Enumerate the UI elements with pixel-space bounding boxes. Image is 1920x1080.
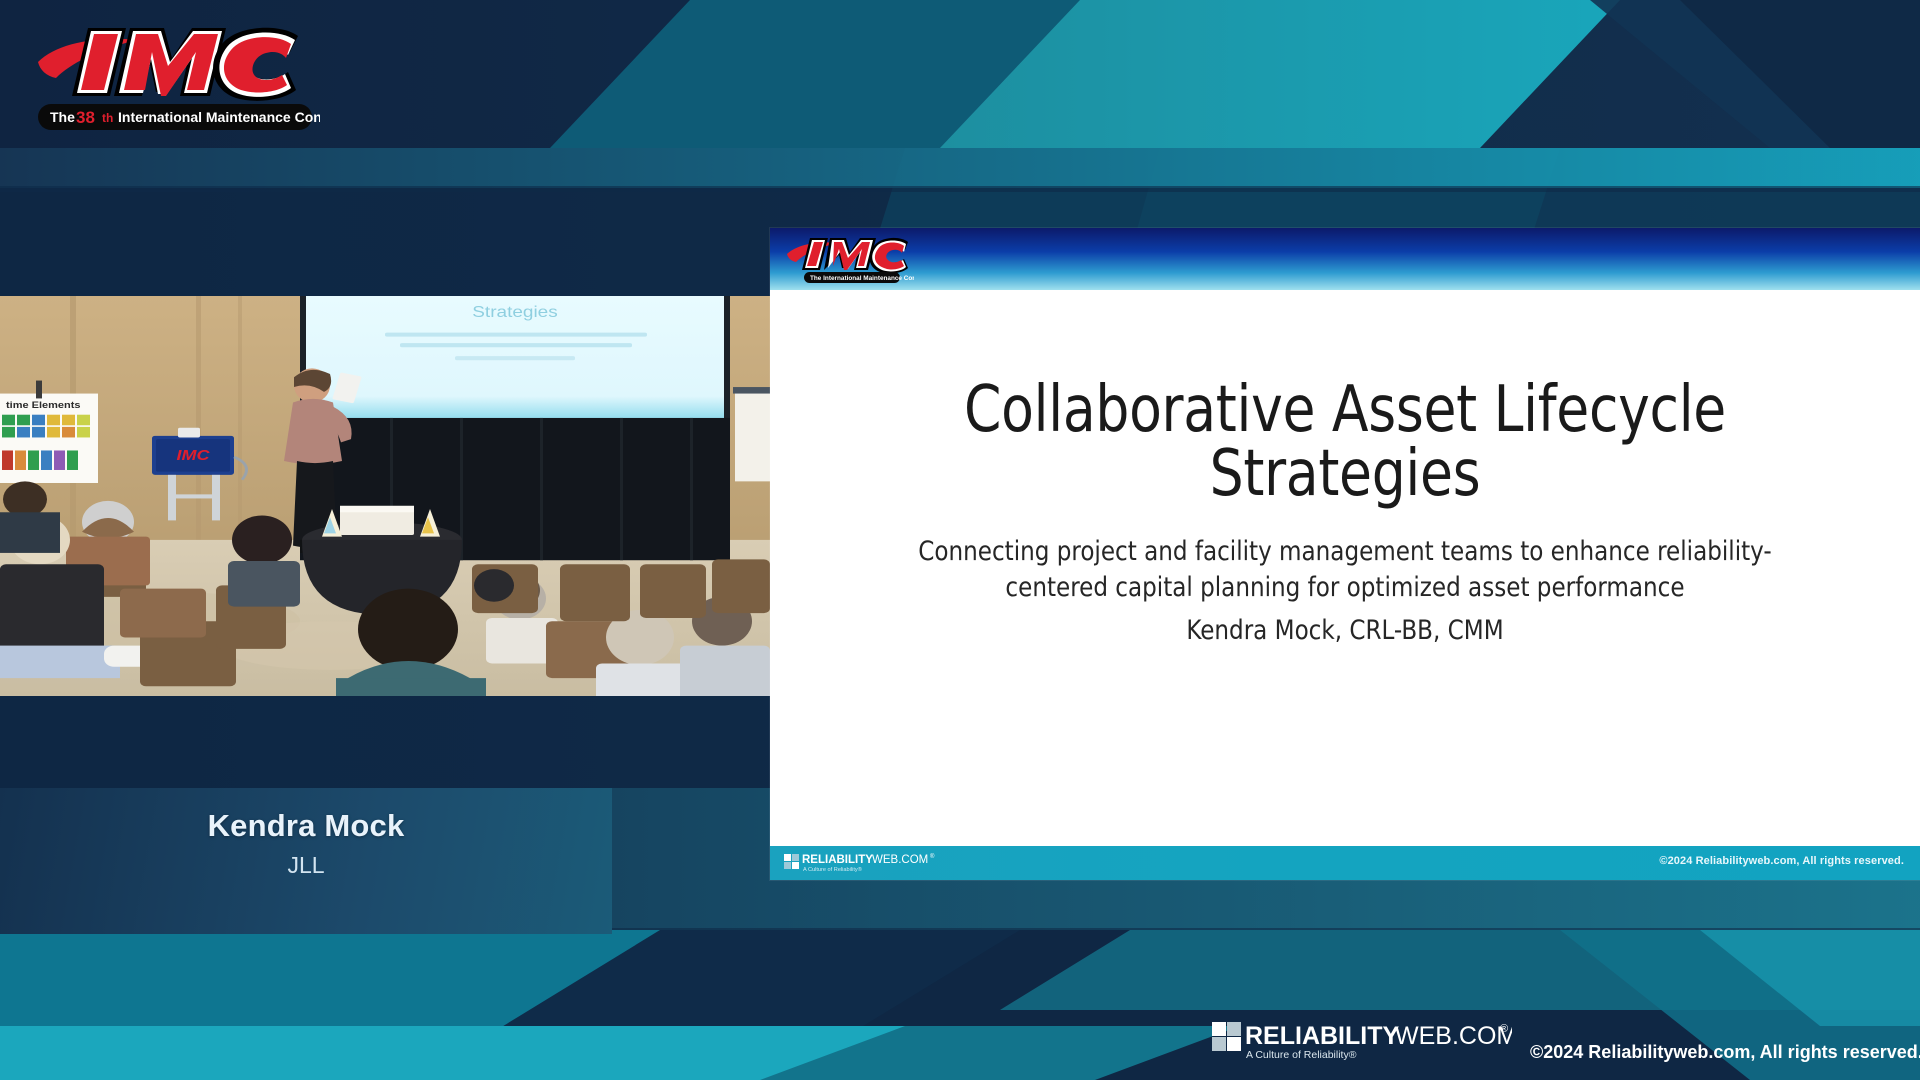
presentation-video[interactable]: Strategies time Elements: [0, 296, 770, 788]
slide-rw-slogan: A Culture of Reliability®: [803, 866, 863, 873]
slide-footer: RELIABILITY WEB.COM ® A Culture of Relia…: [770, 846, 1920, 880]
rw-registered-mark: ®: [1500, 1023, 1508, 1035]
footer-copyright: ©2024 Reliabilityweb.com, All rights res…: [1530, 1042, 1920, 1063]
rw-bold-text: RELIABILITY: [1245, 1022, 1399, 1050]
slide-imc-logo-graphic: The International Maintenance Conference: [784, 232, 914, 286]
slide-rw-bold: RELIABILITY: [802, 854, 873, 866]
slide-subtitle: Connecting project and facility manageme…: [913, 534, 1778, 605]
slide-imc-logo: The International Maintenance Conference: [784, 232, 914, 286]
poster-label: time Elements: [6, 401, 81, 411]
reliabilityweb-logo: RELIABILITY WEB.COM ® A Culture of Relia…: [1212, 1018, 1512, 1066]
slide-title: Collaborative Asset Lifecycle Strategies: [894, 378, 1796, 506]
slide-imc-tagline: The International Maintenance Conference: [810, 275, 914, 282]
slide-rw-registered: ®: [930, 853, 935, 860]
video-still: Strategies time Elements: [0, 296, 770, 788]
rw-slogan: A Culture of Reliability®: [1246, 1049, 1357, 1061]
slide-content: Collaborative Asset Lifecycle Strategies…: [770, 290, 1920, 846]
slide-copyright: ©2024 Reliabilityweb.com, All rights res…: [1659, 855, 1904, 867]
reliabilityweb-logo-graphic: RELIABILITY WEB.COM ® A Culture of Relia…: [1212, 1018, 1512, 1066]
slide-author: Kendra Mock, CRL-BB, CMM: [913, 615, 1778, 646]
slide-rw-light: WEB.COM: [872, 854, 928, 866]
speaker-organization: JLL: [0, 852, 612, 879]
speaker-nameplate: Kendra Mock JLL: [0, 788, 612, 934]
projected-slide-heading: Strategies: [472, 303, 558, 321]
speaker-name: Kendra Mock: [0, 808, 612, 844]
lectern-imc-label: IMC: [177, 448, 211, 464]
slide-reliabilityweb-logo-graphic: RELIABILITY WEB.COM ® A Culture of Relia…: [784, 851, 1014, 875]
video-scene: Strategies time Elements: [0, 296, 770, 696]
slide-header: The International Maintenance Conference: [770, 228, 1920, 290]
rw-light-text: WEB.COM: [1395, 1022, 1512, 1050]
slide-viewer[interactable]: The International Maintenance Conference…: [770, 228, 1920, 880]
slide-reliabilityweb-logo: RELIABILITY WEB.COM ® A Culture of Relia…: [784, 851, 1014, 875]
